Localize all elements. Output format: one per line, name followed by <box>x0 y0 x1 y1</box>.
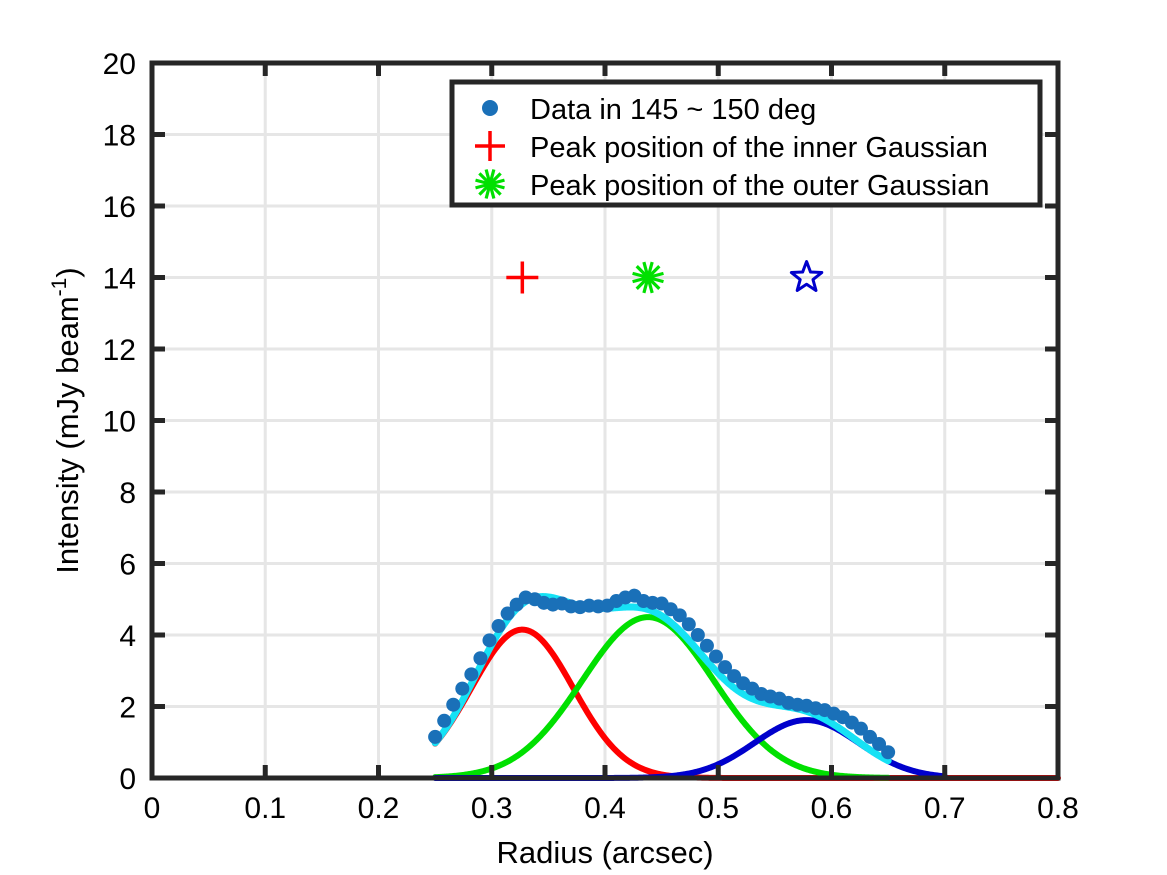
x-tick-label: 0.2 <box>358 792 400 825</box>
y-tick-label: 4 <box>119 620 136 653</box>
third-gaussian-peak-marker <box>791 262 821 291</box>
y-tick-label: 8 <box>119 477 136 510</box>
x-tick-label: 0.6 <box>811 792 853 825</box>
y-tick-label: 10 <box>103 406 136 439</box>
inner-gaussian-peak-marker <box>506 262 538 294</box>
data-point <box>691 628 705 642</box>
x-tick-label: 0.1 <box>244 792 286 825</box>
y-tick-label: 18 <box>103 120 136 153</box>
data-point <box>492 619 506 633</box>
y-tick-label: 14 <box>103 263 136 296</box>
y-tick-label: 2 <box>119 692 136 725</box>
data-point <box>881 745 895 759</box>
legend-marker <box>482 100 498 116</box>
legend-label: Data in 145 ~ 150 deg <box>530 94 816 126</box>
gaussian-curve <box>435 630 1058 778</box>
data-point <box>446 698 460 712</box>
data-point <box>473 651 487 665</box>
data-point <box>482 633 496 647</box>
x-tick-label: 0.4 <box>584 792 626 825</box>
y-axis-title: Intensity (mJy beam-1) <box>48 267 85 573</box>
data-point <box>709 649 723 663</box>
y-tick-label: 16 <box>103 191 136 224</box>
y-tick-label: 20 <box>103 48 136 81</box>
x-tick-label: 0.5 <box>697 792 739 825</box>
x-axis-title: Radius (arcsec) <box>496 835 713 870</box>
data-point <box>437 714 451 728</box>
x-tick-label: 0 <box>144 792 161 825</box>
y-tick-label: 0 <box>119 763 136 796</box>
legend: Data in 145 ~ 150 degPeak position of th… <box>452 82 1040 205</box>
data-point <box>464 667 478 681</box>
figure-container: 00.10.20.30.40.50.60.70.8024681012141618… <box>0 0 1167 875</box>
x-tick-label: 0.3 <box>471 792 513 825</box>
legend-label: Peak position of the outer Gaussian <box>530 170 989 202</box>
y-tick-label: 6 <box>119 549 136 582</box>
x-tick-label: 0.7 <box>924 792 966 825</box>
y-tick-label: 12 <box>103 334 136 367</box>
data-point <box>428 730 442 744</box>
data-point <box>455 682 469 696</box>
data-point <box>682 617 696 631</box>
legend-label: Peak position of the inner Gaussian <box>530 132 988 164</box>
data-point <box>700 639 714 653</box>
x-tick-label: 0.8 <box>1037 792 1079 825</box>
chart-canvas: 00.10.20.30.40.50.60.70.8024681012141618… <box>0 0 1167 875</box>
